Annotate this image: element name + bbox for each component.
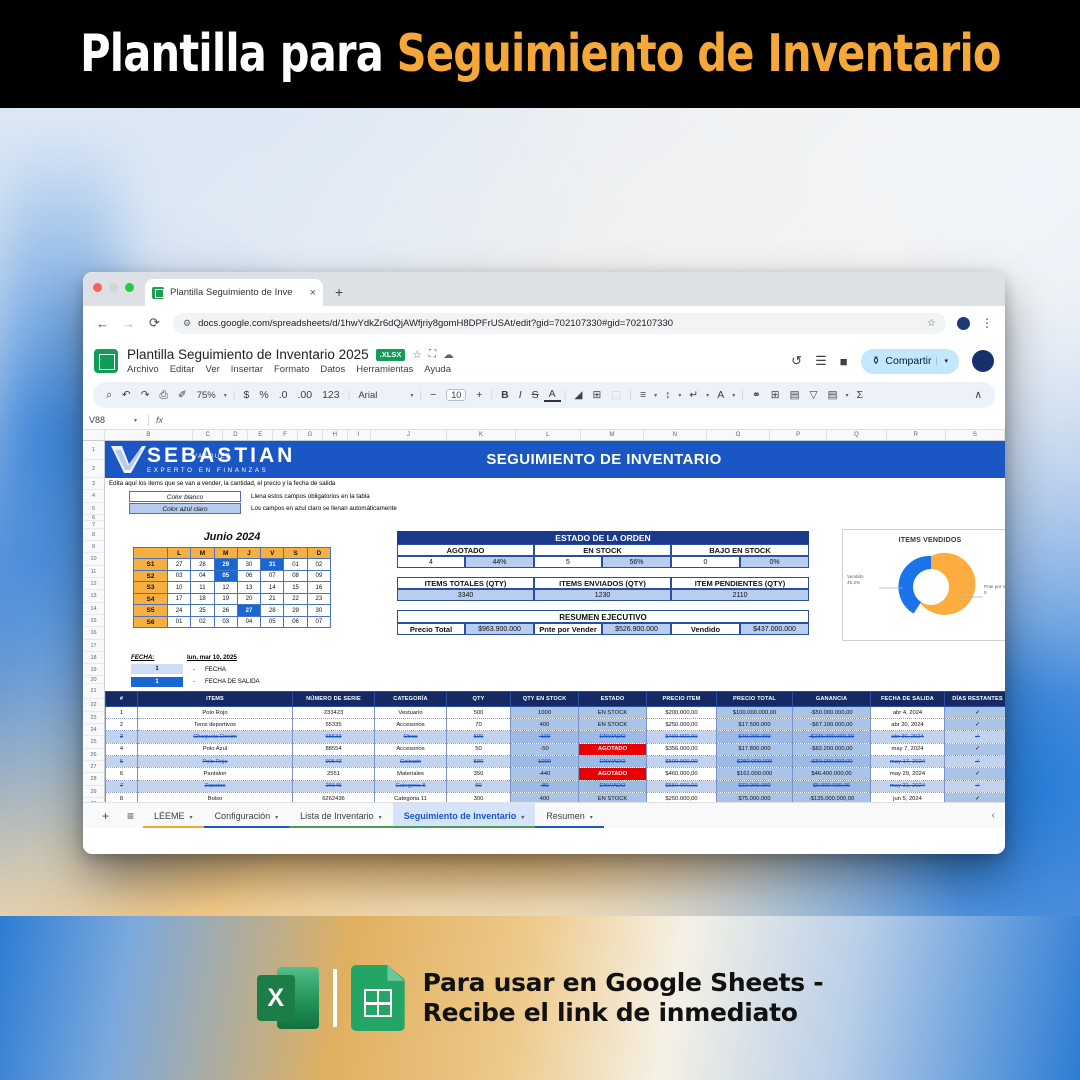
calendar-cell[interactable]: 06 <box>284 616 307 628</box>
add-sheet-button[interactable]: + <box>93 809 118 823</box>
row-header-8[interactable]: 8 <box>83 529 104 541</box>
cell-ganancia[interactable]: -$82.200.000,00 <box>793 743 871 755</box>
meet-icon[interactable]: ■ <box>840 354 848 369</box>
calendar-cell[interactable]: 04 <box>237 616 260 628</box>
calendar-cell[interactable]: 01 <box>168 616 191 628</box>
calendar-cell[interactable]: 04 <box>191 570 214 582</box>
decrease-font-size-button[interactable]: − <box>425 389 441 401</box>
calendar-cell[interactable]: 09 <box>307 570 330 582</box>
calendar-cell[interactable]: 07 <box>261 570 284 582</box>
cell-fecha-salida[interactable]: may 7, 2024 <box>871 743 945 755</box>
cell-ganancia[interactable]: -$235.000.000,00 <box>793 731 871 743</box>
cell-ganancia[interactable]: $5.000.000,00 <box>793 780 871 792</box>
row-header-5[interactable]: 5 <box>83 503 104 515</box>
chevron-down-icon[interactable]: ▾ <box>379 815 382 821</box>
cell-fecha-salida[interactable]: may 31, 2024 <box>871 780 945 792</box>
print-icon[interactable]: ⎙ <box>155 389 173 402</box>
col-header-qty-stock[interactable]: QTY EN STOCK <box>511 691 579 706</box>
calendar-week-row: S5 24 25 26 27 28 29 30 <box>134 605 331 617</box>
font-caret-icon[interactable]: ▾ <box>407 392 416 399</box>
column-header-G[interactable]: G <box>298 430 323 440</box>
cell-qty-stock[interactable]: -440 <box>511 768 579 780</box>
row-header-28[interactable]: 28 <box>83 773 104 785</box>
cell-categoria[interactable]: Materiales <box>375 768 447 780</box>
chevron-down-icon[interactable]: ▾ <box>590 815 593 821</box>
cell-categoria[interactable]: Categoria 8 <box>375 780 447 792</box>
more-formats-icon[interactable]: 123 <box>317 389 345 401</box>
menu-ver[interactable]: Ver <box>206 364 220 375</box>
row-header-25[interactable]: 25 <box>83 736 104 748</box>
calendar-cell[interactable]: 28 <box>261 605 284 617</box>
cell-precio-item[interactable]: $200.000,00 <box>647 706 717 718</box>
calendar-week-label: S3 <box>134 582 168 594</box>
cell-precio-item[interactable]: $500.000,00 <box>647 756 717 768</box>
calendar-cell[interactable]: 02 <box>191 616 214 628</box>
maximize-window-icon[interactable] <box>125 283 134 292</box>
cell-item[interactable]: Pantalon <box>138 768 293 780</box>
sheet-tab-leeme[interactable]: LÉEME▾ <box>143 803 204 829</box>
calendar-cell[interactable]: 29 <box>214 559 237 571</box>
all-sheets-button[interactable]: ≡ <box>118 809 143 823</box>
insert-link-icon[interactable]: ⚭ <box>747 389 766 401</box>
col-header-qty[interactable]: QTY <box>447 691 511 706</box>
items-vendidos-chart[interactable]: ITEMS VENDIDOS <box>842 529 1005 641</box>
filter-icon[interactable]: ▽ <box>805 389 823 401</box>
cell-qty[interactable]: 60 <box>447 780 511 792</box>
insert-chart-icon[interactable]: ▤ <box>785 389 805 401</box>
cell-qty[interactable]: 70 <box>447 719 511 731</box>
redo-icon[interactable]: ↷ <box>136 389 155 401</box>
calendar-cell[interactable]: 30 <box>237 559 260 571</box>
insert-comment-icon[interactable]: ⊞ <box>766 389 785 401</box>
pivot-table-icon[interactable]: ▤ <box>823 389 843 401</box>
cell-serie[interactable]: 55335 <box>293 719 375 731</box>
horizontal-align-icon[interactable]: ≡ <box>635 389 651 401</box>
cell-fecha-salida[interactable]: abr 20, 2024 <box>871 719 945 731</box>
pivot-caret-icon[interactable]: ▾ <box>843 392 852 399</box>
row-header-9[interactable]: 9 <box>83 541 104 553</box>
bookmark-star-icon[interactable]: ☆ <box>927 318 936 329</box>
collapse-toolbar-icon[interactable]: ∧ <box>969 389 987 401</box>
font-size-input[interactable]: 10 <box>446 389 466 401</box>
comments-icon[interactable]: ☰ <box>815 353 827 369</box>
cell-qty-stock[interactable]: -50 <box>511 743 579 755</box>
cell-item[interactable]: Polo Rojo <box>138 706 293 718</box>
calendar-cell[interactable]: 14 <box>261 582 284 594</box>
cell-fecha-salida[interactable]: abr 30, 2024 <box>871 731 945 743</box>
order-status-header-row: AGOTADO EN STOCK BAJO EN STOCK <box>397 544 809 556</box>
calendar-cell[interactable]: 19 <box>214 593 237 605</box>
column-header-F[interactable]: F <box>273 430 298 440</box>
banner-title-white: Plantilla para <box>80 24 397 84</box>
cell-ganancia[interactable]: -$50.000.000,00 <box>793 756 871 768</box>
menu-formato[interactable]: Formato <box>274 364 309 375</box>
calendar-cell[interactable]: 31 <box>261 559 284 571</box>
column-header-K[interactable]: K <box>447 430 516 440</box>
calendar-cell[interactable]: 03 <box>168 570 191 582</box>
legend-white-box: Color blanco <box>129 491 241 502</box>
footer-line-2: Recibe el link de inmediato <box>423 998 824 1029</box>
cell-serie[interactable]: 2551 <box>293 768 375 780</box>
calendar-cell[interactable]: 10 <box>168 582 191 594</box>
cell-estado[interactable]: ENVIADO <box>579 756 647 768</box>
calendar-cell[interactable]: 25 <box>191 605 214 617</box>
valign-caret-icon[interactable]: ▾ <box>675 392 684 399</box>
status-pct-agotado: 44% <box>465 556 534 568</box>
cell-categoria[interactable]: Vestuario <box>375 706 447 718</box>
cell-categoria[interactable]: Otros <box>375 731 447 743</box>
col-header-items[interactable]: ITEMS <box>138 691 293 706</box>
table-row: 1 Polo Rojo 233423 Vestuario 500 1000 EN… <box>106 706 1006 718</box>
calendar-cell[interactable]: 20 <box>237 593 260 605</box>
row-header-27[interactable]: 27 <box>83 761 104 773</box>
browser-menu-icon[interactable]: ⋮ <box>981 316 993 330</box>
wrap-caret-icon[interactable]: ▾ <box>703 392 712 399</box>
row-header-13[interactable]: 13 <box>83 590 104 602</box>
calendar-cell[interactable]: 18 <box>191 593 214 605</box>
calendar-cell[interactable]: 15 <box>284 582 307 594</box>
zoom-level[interactable]: 75% <box>192 390 221 401</box>
name-box-value: V88 <box>89 415 105 425</box>
divider: | <box>487 389 496 401</box>
calendar-cell[interactable]: 23 <box>307 593 330 605</box>
row-header-3[interactable]: 3 <box>83 478 104 490</box>
sheets-app-header: Plantilla Seguimiento de Inventario 2025… <box>83 340 1005 382</box>
cell-item[interactable]: Polo Azul <box>138 743 293 755</box>
cell-qty-stock[interactable]: 400 <box>511 719 579 731</box>
search-icon[interactable]: ⌕ <box>101 389 117 402</box>
calendar-cell[interactable]: 29 <box>284 605 307 617</box>
bold-button[interactable]: B <box>496 389 514 401</box>
cell-precio-total[interactable]: $100.000.000,00 <box>717 706 793 718</box>
cell-dias-restantes[interactable]: ✓ <box>945 756 1006 768</box>
cell-qty[interactable]: 500 <box>447 756 511 768</box>
cell-precio-total[interactable]: $17.800.000 <box>717 743 793 755</box>
col-header-estado[interactable]: ESTADO <box>579 691 647 706</box>
col-header-precio-total[interactable]: PRECIO TOTAL <box>717 691 793 706</box>
cell-estado[interactable]: EN STOCK <box>579 706 647 718</box>
cell-num[interactable]: 7 <box>106 780 138 792</box>
menu-insertar[interactable]: Insertar <box>231 364 263 375</box>
row-header-18[interactable]: 18 <box>83 652 104 664</box>
close-window-icon[interactable] <box>93 283 102 292</box>
cell-serie[interactable]: 26645 <box>293 780 375 792</box>
menu-ayuda[interactable]: Ayuda <box>424 364 451 375</box>
calendar-cell[interactable]: 08 <box>284 570 307 582</box>
row-header-10[interactable]: 10 <box>83 553 104 565</box>
menu-editar[interactable]: Editar <box>170 364 195 375</box>
share-caret-icon[interactable]: ▾ <box>936 357 948 365</box>
collapse-sheets-icon[interactable]: ‹ <box>992 810 1005 821</box>
address-bar[interactable]: ⚙ docs.google.com/spreadsheets/d/1hwYdkZ… <box>173 313 946 334</box>
menu-datos[interactable]: Datos <box>320 364 345 375</box>
cell-qty-stock[interactable]: -80 <box>511 780 579 792</box>
col-header-dias-restantes[interactable]: DÍAS RESTANTES <box>945 691 1006 706</box>
merge-cells-icon[interactable]: ⬚ <box>606 389 626 401</box>
calendar-cell[interactable]: 21 <box>261 593 284 605</box>
increase-decimal-icon[interactable]: .00 <box>292 389 317 401</box>
calendar-cell[interactable]: 26 <box>214 605 237 617</box>
sheet-tab-resumen[interactable]: Resumen▾ <box>535 803 604 829</box>
row-header-12[interactable]: 12 <box>83 578 104 590</box>
cell-categoria[interactable]: Accesorios <box>375 743 447 755</box>
calendar-cell[interactable]: 22 <box>284 593 307 605</box>
divider: | <box>626 389 635 401</box>
column-header-S[interactable]: S <box>946 430 1005 440</box>
cell-categoria[interactable]: Calzado <box>375 756 447 768</box>
decrease-decimal-icon[interactable]: .0 <box>274 389 293 401</box>
column-header-Q[interactable]: Q <box>827 430 886 440</box>
drive-cloud-icon[interactable]: ☁ <box>443 349 454 361</box>
font-family-select[interactable]: Arial <box>353 390 407 401</box>
calendar-title: Junio 2024 <box>133 531 331 547</box>
row-header-2[interactable]: 2 <box>83 460 104 479</box>
calendar-cell[interactable]: 28 <box>191 559 214 571</box>
cell-dias-restantes[interactable]: ✓ <box>945 731 1006 743</box>
cell-precio-item[interactable]: $400.000,00 <box>647 731 717 743</box>
cell-ganancia[interactable]: $46.400.000,00 <box>793 768 871 780</box>
chevron-down-icon[interactable]: ▾ <box>190 815 193 821</box>
column-header-B[interactable]: B <box>105 430 193 440</box>
row-header-23[interactable]: 23 <box>83 712 104 724</box>
cell-categoria[interactable]: Accesorios <box>375 719 447 731</box>
zoom-caret-icon[interactable]: ▾ <box>221 392 230 399</box>
cell-precio-total[interactable]: $161.000.000 <box>717 768 793 780</box>
col-header-ganancia[interactable]: GANANCIA <box>793 691 871 706</box>
calendar-cell[interactable]: 06 <box>237 570 260 582</box>
row-header-24[interactable]: 24 <box>83 724 104 736</box>
cell-qty[interactable]: 50 <box>447 743 511 755</box>
calendar-cell[interactable]: 12 <box>214 582 237 594</box>
forward-icon[interactable]: → <box>121 316 136 331</box>
cell-estado[interactable]: ENVIADO <box>579 780 647 792</box>
bottom-banner: X Para usar en Google Sheets - Recibe el… <box>0 916 1080 1080</box>
calendar-cell[interactable]: 05 <box>261 616 284 628</box>
back-icon[interactable]: ← <box>95 316 110 331</box>
chart-title: ITEMS VENDIDOS <box>843 530 1005 544</box>
document-title[interactable]: Plantilla Seguimiento de Inventario 2025 <box>127 347 369 362</box>
cell-estado[interactable]: AGOTADO <box>579 768 647 780</box>
row-header-26[interactable]: 26 <box>83 749 104 761</box>
sheet-tab-label: LÉEME <box>154 811 185 821</box>
account-avatar[interactable] <box>972 350 994 372</box>
row-header-21[interactable]: 21 <box>83 684 104 699</box>
menu-herramientas[interactable]: Herramientas <box>356 364 413 375</box>
cell-item[interactable]: Polo Rojo <box>138 756 293 768</box>
order-status-title: ESTADO DE LA ORDEN <box>397 531 809 544</box>
cell-item[interactable]: Tenis deportivos <box>138 719 293 731</box>
fill-color-icon[interactable]: ◢ <box>569 389 587 401</box>
column-header-D[interactable]: D <box>223 430 248 440</box>
vertical-align-icon[interactable]: ↕ <box>660 389 675 401</box>
window-controls[interactable] <box>93 283 134 292</box>
document-title-block: Plantilla Seguimiento de Inventario 2025… <box>127 347 782 375</box>
qty-header-row: ITEMS TOTALES (QTY) ITEMS ENVIADOS (QTY)… <box>397 577 809 589</box>
cell-serie[interactable]: 233423 <box>293 706 375 718</box>
cell-qty-stock[interactable]: 1000 <box>511 706 579 718</box>
cell-fecha-salida[interactable]: may 29, 2024 <box>871 768 945 780</box>
cell-num[interactable]: 2 <box>106 719 138 731</box>
calendar-week-label: S5 <box>134 605 168 617</box>
v-checkmark-icon <box>109 444 147 475</box>
text-color-button[interactable]: A <box>544 388 561 402</box>
name-box-caret-icon[interactable]: ▾ <box>134 417 137 424</box>
cell-fecha-salida[interactable]: may 17, 2024 <box>871 756 945 768</box>
column-header-C[interactable]: C <box>193 430 224 440</box>
browser-profile-avatar[interactable] <box>957 317 970 330</box>
undo-icon[interactable]: ↶ <box>117 389 136 401</box>
cell-precio-item[interactable]: $460.000,00 <box>647 768 717 780</box>
calendar-cell[interactable]: 13 <box>237 582 260 594</box>
percent-format-icon[interactable]: % <box>254 389 273 401</box>
cell-item[interactable]: Zapatos <box>138 780 293 792</box>
col-header-precio-item[interactable]: PRECIO ITEM <box>647 691 717 706</box>
close-tab-icon[interactable]: × <box>310 287 316 299</box>
calendar-cell[interactable]: 27 <box>168 559 191 571</box>
cell-dias-restantes[interactable]: ✓ <box>945 780 1006 792</box>
rotation-caret-icon[interactable]: ▾ <box>729 392 738 399</box>
column-header-H[interactable]: H <box>323 430 348 440</box>
row-header-17[interactable]: 17 <box>83 640 104 652</box>
new-tab-button[interactable]: + <box>335 284 343 300</box>
version-history-icon[interactable]: ↺ <box>791 353 802 369</box>
functions-icon[interactable]: Σ <box>852 389 869 401</box>
cell-ganancia[interactable]: -$67.100.000,00 <box>793 719 871 731</box>
calendar-cell[interactable]: 16 <box>307 582 330 594</box>
cell-serie[interactable]: 88554 <box>293 743 375 755</box>
col-header-categoria[interactable]: CATEGORÍA <box>375 691 447 706</box>
calendar-cell[interactable]: 30 <box>307 605 330 617</box>
text-rotation-icon[interactable]: A <box>712 389 729 401</box>
cell-ganancia[interactable]: -$50.000.000,00 <box>793 706 871 718</box>
column-header-R[interactable]: R <box>887 430 946 440</box>
column-header-O[interactable]: O <box>707 430 770 440</box>
name-box[interactable]: V88 ▾ <box>89 415 141 425</box>
increase-font-size-button[interactable]: + <box>471 389 487 401</box>
sheet-tab-configuracion[interactable]: Configuración▾ <box>204 803 290 829</box>
cell-qty[interactable]: 350 <box>447 768 511 780</box>
text-wrap-icon[interactable]: ↵ <box>684 389 703 401</box>
share-button[interactable]: ⚱ Compartir ▾ <box>861 349 959 374</box>
cell-num[interactable]: 1 <box>106 706 138 718</box>
star-icon[interactable]: ☆ <box>412 349 421 361</box>
cell-estado[interactable]: EN STOCK <box>579 719 647 731</box>
row-header-29[interactable]: 29 <box>83 786 104 798</box>
italic-button[interactable]: I <box>514 389 527 401</box>
cell-serie[interactable]: 65533 <box>293 731 375 743</box>
calendar-cell[interactable]: 07 <box>307 616 330 628</box>
chevron-down-icon[interactable]: ▾ <box>275 815 278 821</box>
row-header-11[interactable]: 11 <box>83 566 104 578</box>
cell-qty-stock[interactable]: 1000 <box>511 756 579 768</box>
cell-num[interactable]: 3 <box>106 731 138 743</box>
borders-icon[interactable]: ⊞ <box>587 389 606 401</box>
cell-precio-total[interactable]: $40.000.000 <box>717 731 793 743</box>
cell-dias-restantes[interactable]: ✓ <box>945 743 1006 755</box>
col-header-serie[interactable]: NÚMERO DE SERIE <box>293 691 375 706</box>
sheet-tab-seguimiento-inventario[interactable]: Seguimiento de Inventario▾ <box>393 803 536 829</box>
currency-format-icon[interactable]: $ <box>239 389 255 401</box>
minimize-window-icon[interactable] <box>109 283 118 292</box>
halign-caret-icon[interactable]: ▾ <box>651 392 660 399</box>
cell-dias-restantes[interactable]: ✓ <box>945 719 1006 731</box>
row-header-16[interactable]: 16 <box>83 627 104 639</box>
row-header-20[interactable]: 20 <box>83 676 104 684</box>
row-header-15[interactable]: 15 <box>83 615 104 627</box>
sheet-tab-lista-inventario[interactable]: Lista de Inventario▾ <box>289 803 393 829</box>
sheet-canvas[interactable]: SEBASTIAN VASQUEZ EXPERTO EN FINANZAS SE… <box>105 441 1005 828</box>
row-header-19[interactable]: 19 <box>83 664 104 676</box>
column-header-N[interactable]: N <box>644 430 707 440</box>
cell-num[interactable]: 6 <box>106 768 138 780</box>
fecha-row-1: 1 - FECHA <box>131 663 260 675</box>
grid-corner[interactable] <box>83 430 105 440</box>
calendar-cell[interactable]: 03 <box>214 616 237 628</box>
move-to-folder-icon[interactable]: ⛶ <box>429 348 436 361</box>
column-header-L[interactable]: L <box>516 430 581 440</box>
cell-item[interactable]: Chaqueta Denim <box>138 731 293 743</box>
cell-precio-total[interactable]: $17.500.000 <box>717 719 793 731</box>
menu-archivo[interactable]: Archivo <box>127 364 159 375</box>
calendar-cell[interactable]: 27 <box>237 605 260 617</box>
cell-qty[interactable]: 500 <box>447 731 511 743</box>
row-header-14[interactable]: 14 <box>83 603 104 615</box>
strikethrough-button[interactable]: S <box>527 389 544 401</box>
cell-dias-restantes[interactable]: ✓ <box>945 768 1006 780</box>
col-header-num[interactable]: # <box>106 691 138 706</box>
cell-precio-total[interactable]: $33.000.000 <box>717 780 793 792</box>
calendar-cell[interactable]: 24 <box>168 605 191 617</box>
cell-precio-item[interactable]: $356.000,00 <box>647 743 717 755</box>
calendar-week-row: S6 01 02 03 04 05 06 07 <box>134 616 331 628</box>
column-header-P[interactable]: P <box>770 430 827 440</box>
calendar-day-S: S <box>284 547 307 559</box>
calendar-cell[interactable]: 02 <box>307 559 330 571</box>
cell-estado[interactable]: AGOTADO <box>579 743 647 755</box>
cell-fecha-salida[interactable]: abr 4, 2024 <box>871 706 945 718</box>
row-header-22[interactable]: 22 <box>83 699 104 711</box>
row-header-7[interactable]: 7 <box>83 521 104 529</box>
browser-tab[interactable]: Plantilla Seguimiento de Inve × <box>145 279 323 306</box>
calendar-cell[interactable]: 17 <box>168 593 191 605</box>
cell-dias-restantes[interactable]: ✓ <box>945 706 1006 718</box>
column-header-J[interactable]: J <box>371 430 447 440</box>
site-settings-icon[interactable]: ⚙ <box>183 318 191 329</box>
row-header-1[interactable]: 1 <box>83 441 104 460</box>
paint-format-icon[interactable]: ✐ <box>173 389 192 401</box>
cell-qty-stock[interactable]: -100 <box>511 731 579 743</box>
cell-qty[interactable]: 500 <box>447 706 511 718</box>
calendar-cell[interactable]: 01 <box>284 559 307 571</box>
column-header-E[interactable]: E <box>248 430 273 440</box>
cell-precio-item[interactable]: $250.000,00 <box>647 719 717 731</box>
chevron-down-icon[interactable]: ▾ <box>521 815 524 821</box>
cell-precio-item[interactable]: $550.000,00 <box>647 780 717 792</box>
cell-serie[interactable]: 90543 <box>293 756 375 768</box>
column-header-M[interactable]: M <box>581 430 644 440</box>
reload-icon[interactable]: ⟳ <box>147 315 162 331</box>
fecha-label: FECHA: <box>131 654 183 661</box>
calendar-cell[interactable]: 11 <box>191 582 214 594</box>
calendar-cell[interactable]: 05 <box>214 570 237 582</box>
col-header-fecha-salida[interactable]: FECHA DE SALIDA <box>871 691 945 706</box>
cell-num[interactable]: 5 <box>106 756 138 768</box>
cell-estado[interactable]: ENVIADO <box>579 731 647 743</box>
cell-num[interactable]: 4 <box>106 743 138 755</box>
cell-precio-total[interactable]: $250.000.000 <box>717 756 793 768</box>
row-header-4[interactable]: 4 <box>83 490 104 502</box>
column-header-I[interactable]: I <box>348 430 371 440</box>
